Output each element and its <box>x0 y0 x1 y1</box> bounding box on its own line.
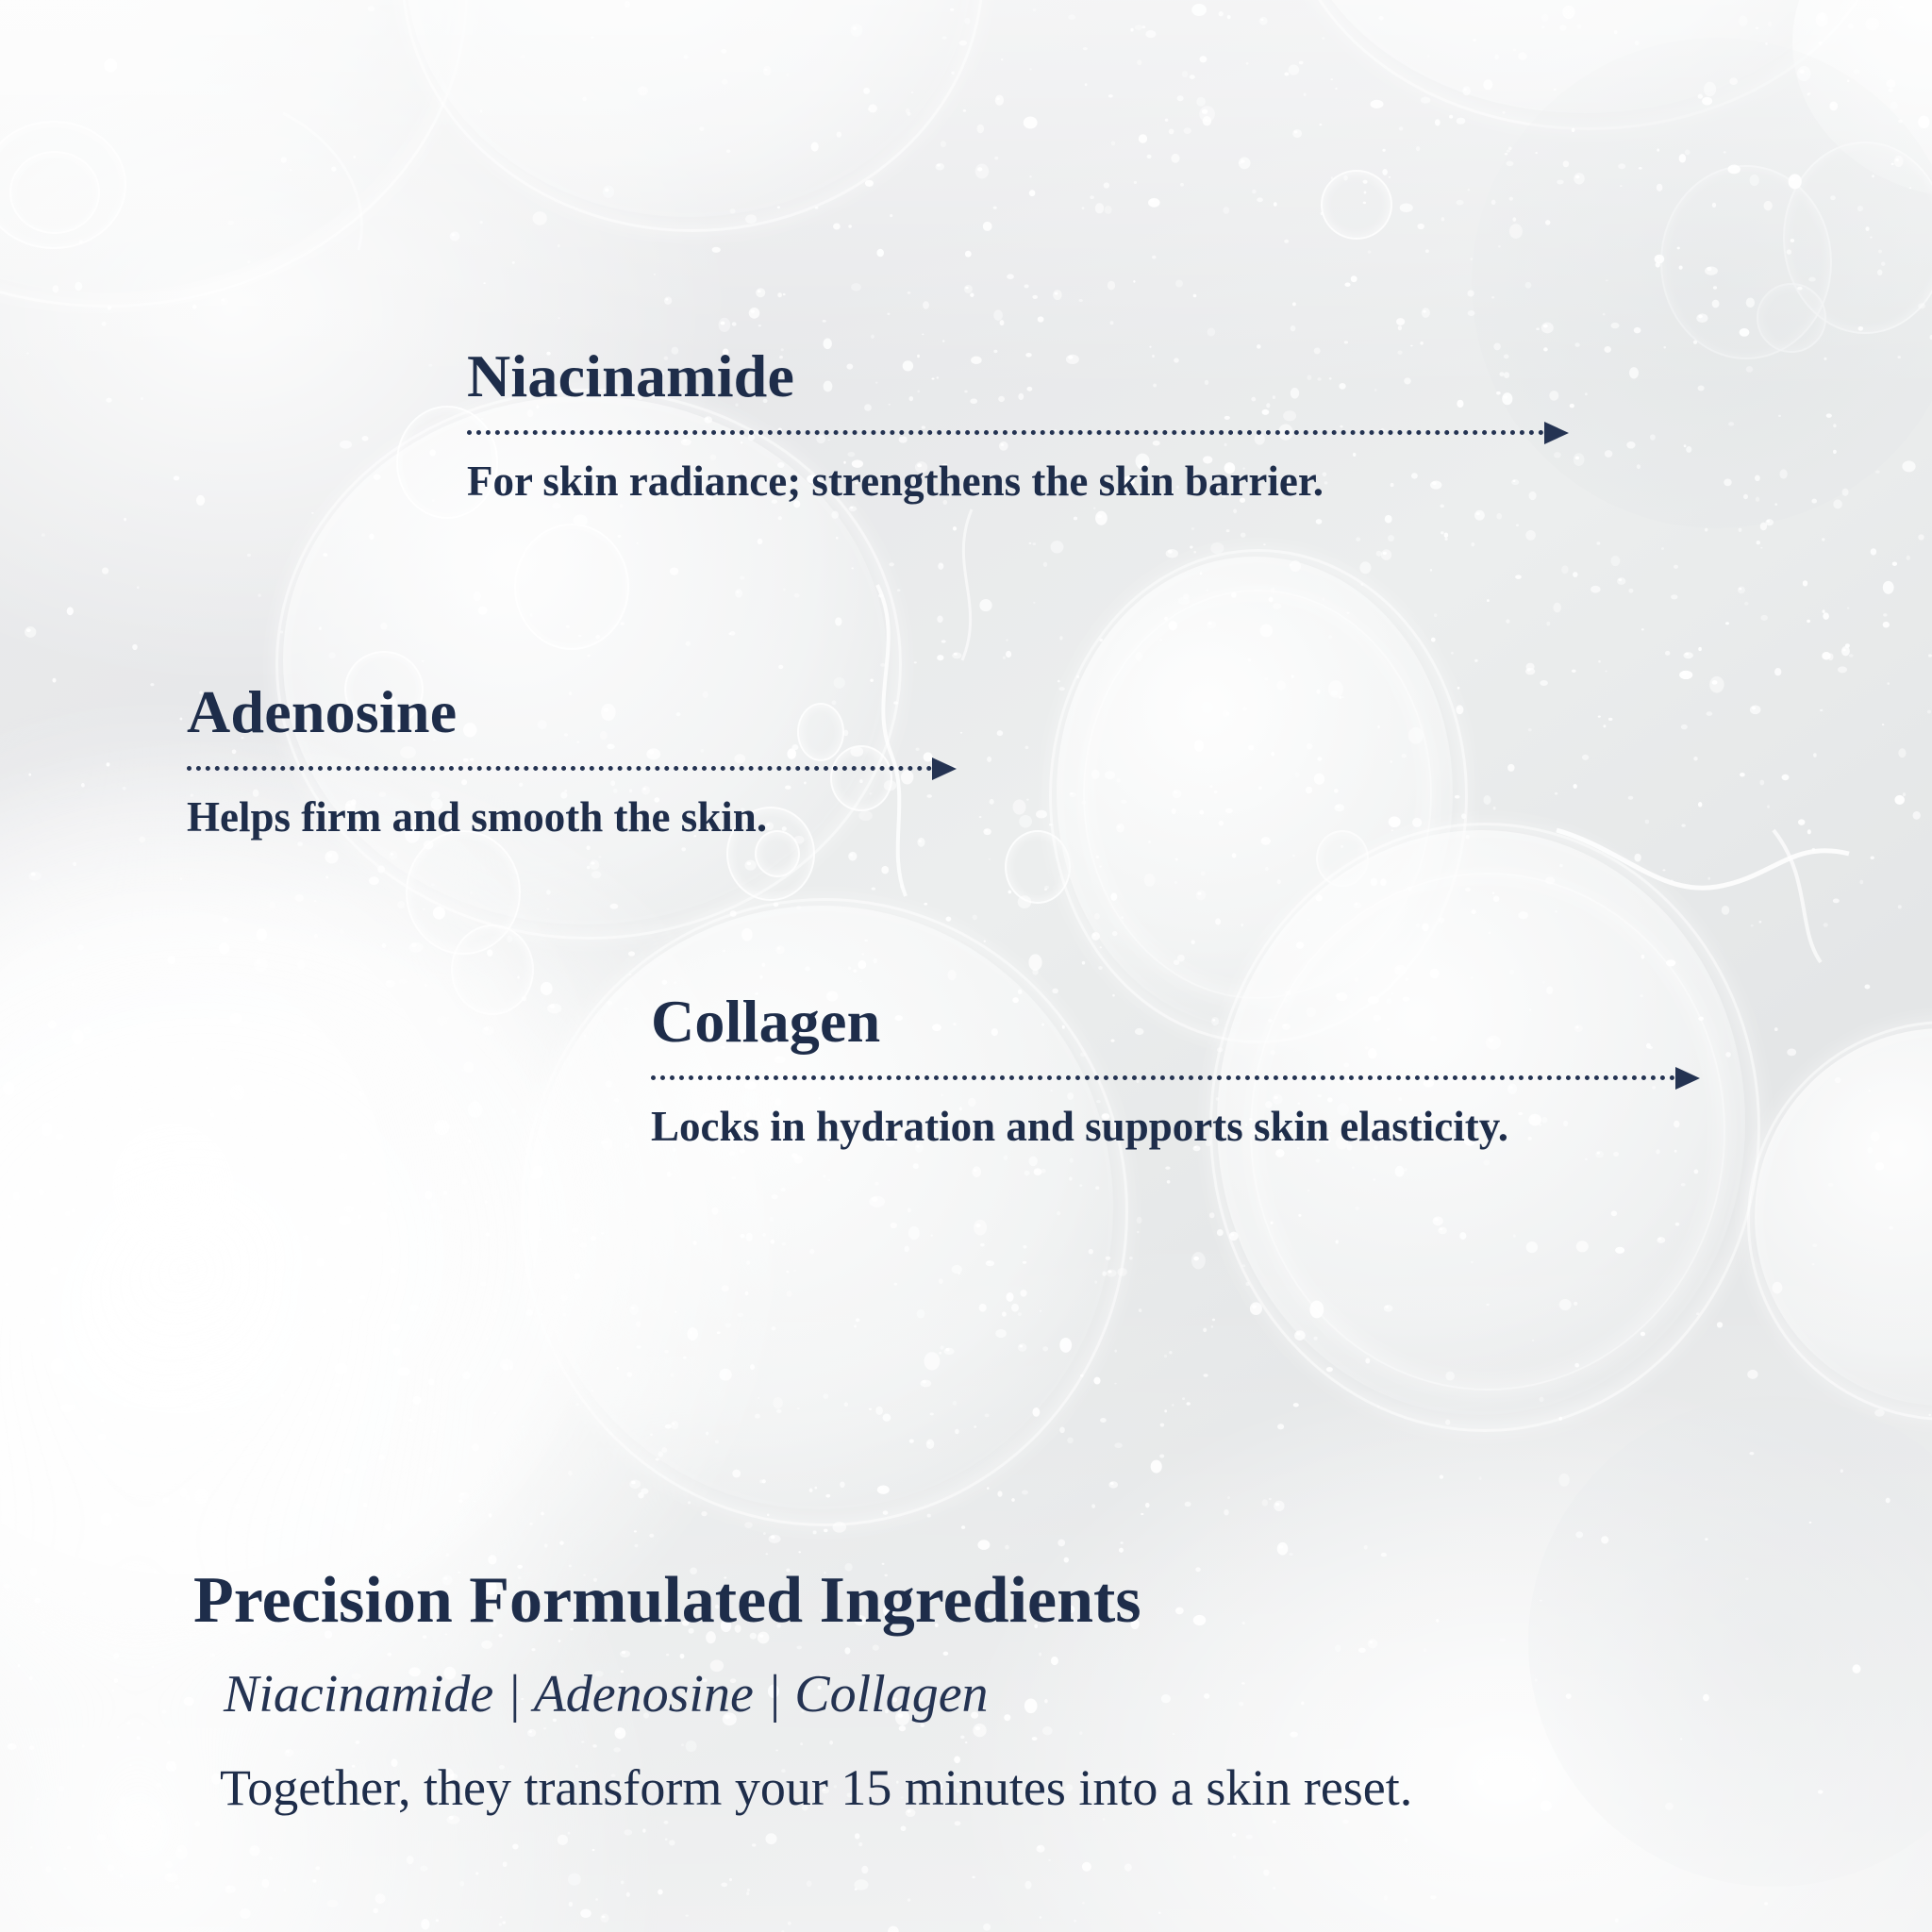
callout-description-adenosine: Helps firm and smooth the skin. <box>187 795 965 840</box>
callout-title-collagen: Collagen <box>651 991 1707 1052</box>
dotted-line <box>187 766 932 771</box>
callout-adenosine: Adenosine Helps firm and smooth the skin… <box>187 681 965 841</box>
callout-rule-adenosine <box>187 756 965 780</box>
callout-description-niacinamide: For skin radiance; strengthens the skin … <box>467 459 1575 504</box>
callout-rule-collagen <box>651 1065 1707 1090</box>
callout-niacinamide: Niacinamide For skin radiance; strengthe… <box>467 345 1575 505</box>
dotted-line <box>467 430 1544 435</box>
ingredient-callout-graphic: Niacinamide For skin radiance; strengthe… <box>0 0 1932 1932</box>
summary-title: Precision Formulated Ingredients <box>193 1568 1740 1634</box>
callout-title-adenosine: Adenosine <box>187 681 965 742</box>
callout-collagen: Collagen Locks in hydration and supports… <box>651 991 1707 1150</box>
callout-description-collagen: Locks in hydration and supports skin ela… <box>651 1105 1707 1149</box>
callout-title-niacinamide: Niacinamide <box>467 345 1575 407</box>
arrow-right-icon <box>1675 1067 1700 1090</box>
arrow-right-icon <box>932 758 957 780</box>
arrow-right-icon <box>1544 422 1569 444</box>
summary-tagline: Together, they transform your 15 minutes… <box>220 1762 1740 1813</box>
callout-rule-niacinamide <box>467 420 1575 444</box>
dotted-line <box>651 1075 1675 1080</box>
summary-ingredient-list: Niacinamide | Adenosine | Collagen <box>224 1668 1740 1721</box>
summary-block: Precision Formulated Ingredients Niacina… <box>193 1568 1740 1813</box>
